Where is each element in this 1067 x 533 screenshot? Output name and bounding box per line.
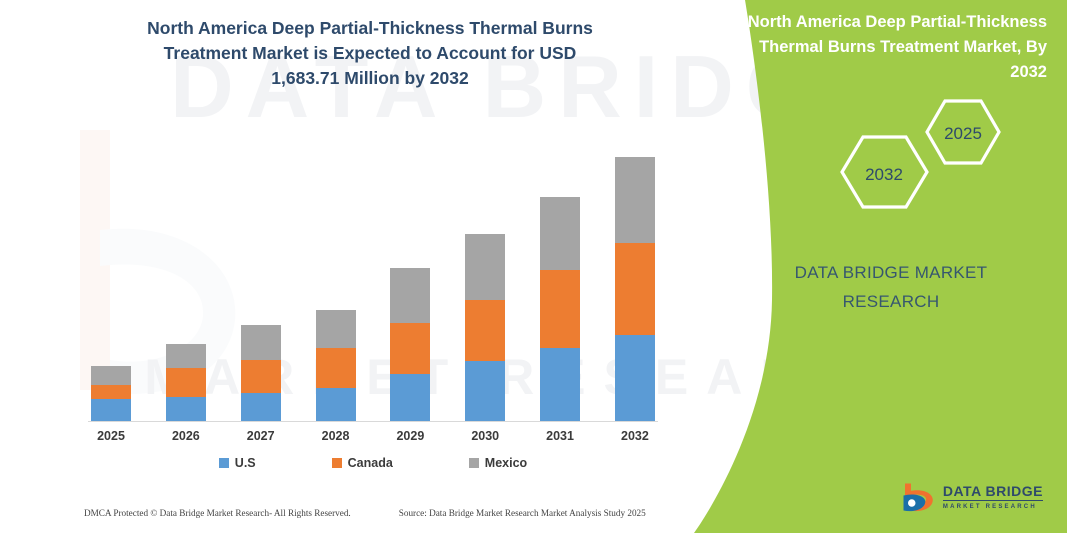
footer: DMCA Protected © Data Bridge Market Rese… bbox=[0, 508, 700, 518]
bar-segment bbox=[166, 397, 206, 421]
data-bridge-b-icon bbox=[899, 479, 935, 515]
chart-legend: U.SCanadaMexico bbox=[88, 456, 658, 470]
legend-swatch-icon bbox=[219, 458, 229, 468]
bar-segment bbox=[540, 348, 580, 421]
legend-label: Mexico bbox=[485, 456, 527, 470]
panel-title: North America Deep Partial-Thickness The… bbox=[735, 10, 1047, 85]
logo-title: DATA BRIDGE bbox=[943, 484, 1043, 498]
bar-column bbox=[390, 268, 430, 421]
hexagon-badge-2025: 2025 bbox=[927, 101, 999, 163]
bar-segment bbox=[465, 361, 505, 421]
bar-segment bbox=[465, 234, 505, 300]
green-panel-content: North America Deep Partial-Thickness The… bbox=[735, 0, 1067, 533]
company-logo: DATA BRIDGE MARKET RESEARCH bbox=[899, 479, 1043, 515]
hexagon-label-2032: 2032 bbox=[865, 165, 903, 184]
bar-segment bbox=[316, 388, 356, 421]
bar-segment bbox=[166, 344, 206, 368]
bar-segment bbox=[316, 310, 356, 348]
bar-column bbox=[615, 157, 655, 421]
hexagon-badge-2032: 2032 bbox=[842, 137, 927, 207]
x-axis-line bbox=[88, 421, 658, 422]
legend-item[interactable]: U.S bbox=[219, 456, 256, 470]
bar-segment bbox=[465, 300, 505, 361]
footer-source: Source: Data Bridge Market Research Mark… bbox=[399, 508, 646, 518]
legend-item[interactable]: Mexico bbox=[469, 456, 527, 470]
logo-wordmark: DATA BRIDGE MARKET RESEARCH bbox=[943, 484, 1043, 510]
bar-segment bbox=[91, 385, 131, 399]
legend-item[interactable]: Canada bbox=[332, 456, 393, 470]
bar-column bbox=[91, 366, 131, 421]
brand-name: DATA BRIDGE MARKET RESEARCH bbox=[735, 258, 1047, 316]
x-axis-tick-label: 2030 bbox=[465, 429, 505, 443]
bar-segment bbox=[91, 399, 131, 421]
brand-name-line-1: DATA BRIDGE MARKET bbox=[735, 258, 1047, 287]
bar-segment bbox=[615, 157, 655, 243]
bar-segment bbox=[390, 268, 430, 323]
bar-segment bbox=[615, 243, 655, 335]
bar-segment bbox=[540, 270, 580, 348]
bar-column bbox=[241, 325, 281, 421]
x-axis-tick-label: 2032 bbox=[615, 429, 655, 443]
chart-pane: North America Deep Partial-Thickness The… bbox=[0, 0, 712, 533]
x-axis-tick-label: 2027 bbox=[241, 429, 281, 443]
infographic-page: DATA BRIDGE MARKET RESEARCH North Americ… bbox=[0, 0, 1067, 533]
x-axis-tick-label: 2031 bbox=[540, 429, 580, 443]
brand-name-line-2: RESEARCH bbox=[735, 287, 1047, 316]
bar-segment bbox=[615, 335, 655, 421]
bar-segment bbox=[241, 325, 281, 360]
hexagon-label-2025: 2025 bbox=[944, 124, 982, 143]
bar-segment bbox=[390, 323, 430, 374]
bar-column bbox=[166, 344, 206, 421]
legend-label: Canada bbox=[348, 456, 393, 470]
legend-swatch-icon bbox=[332, 458, 342, 468]
bar-segment bbox=[540, 197, 580, 270]
bar-segment bbox=[91, 366, 131, 385]
legend-swatch-icon bbox=[469, 458, 479, 468]
logo-divider bbox=[943, 500, 1043, 501]
bar-group bbox=[88, 140, 658, 421]
x-axis-labels: 20252026202720282029203020312032 bbox=[88, 429, 658, 443]
x-axis-tick-label: 2025 bbox=[91, 429, 131, 443]
x-axis-tick-label: 2026 bbox=[166, 429, 206, 443]
bar-column bbox=[316, 310, 356, 421]
bar-segment bbox=[316, 348, 356, 388]
bar-column bbox=[540, 197, 580, 421]
page-title: North America Deep Partial-Thickness The… bbox=[130, 16, 610, 91]
bar-segment bbox=[241, 360, 281, 393]
x-axis-tick-label: 2028 bbox=[316, 429, 356, 443]
logo-subtitle: MARKET RESEARCH bbox=[943, 504, 1043, 510]
x-axis-tick-label: 2029 bbox=[390, 429, 430, 443]
bar-segment bbox=[166, 368, 206, 397]
bar-segment bbox=[241, 393, 281, 421]
bar-segment bbox=[390, 374, 430, 421]
legend-label: U.S bbox=[235, 456, 256, 470]
footer-copyright: DMCA Protected © Data Bridge Market Rese… bbox=[84, 508, 351, 518]
bar-chart-plot bbox=[88, 140, 658, 422]
bar-column bbox=[465, 234, 505, 421]
hexagon-badges: 2025 2032 bbox=[795, 95, 1055, 210]
